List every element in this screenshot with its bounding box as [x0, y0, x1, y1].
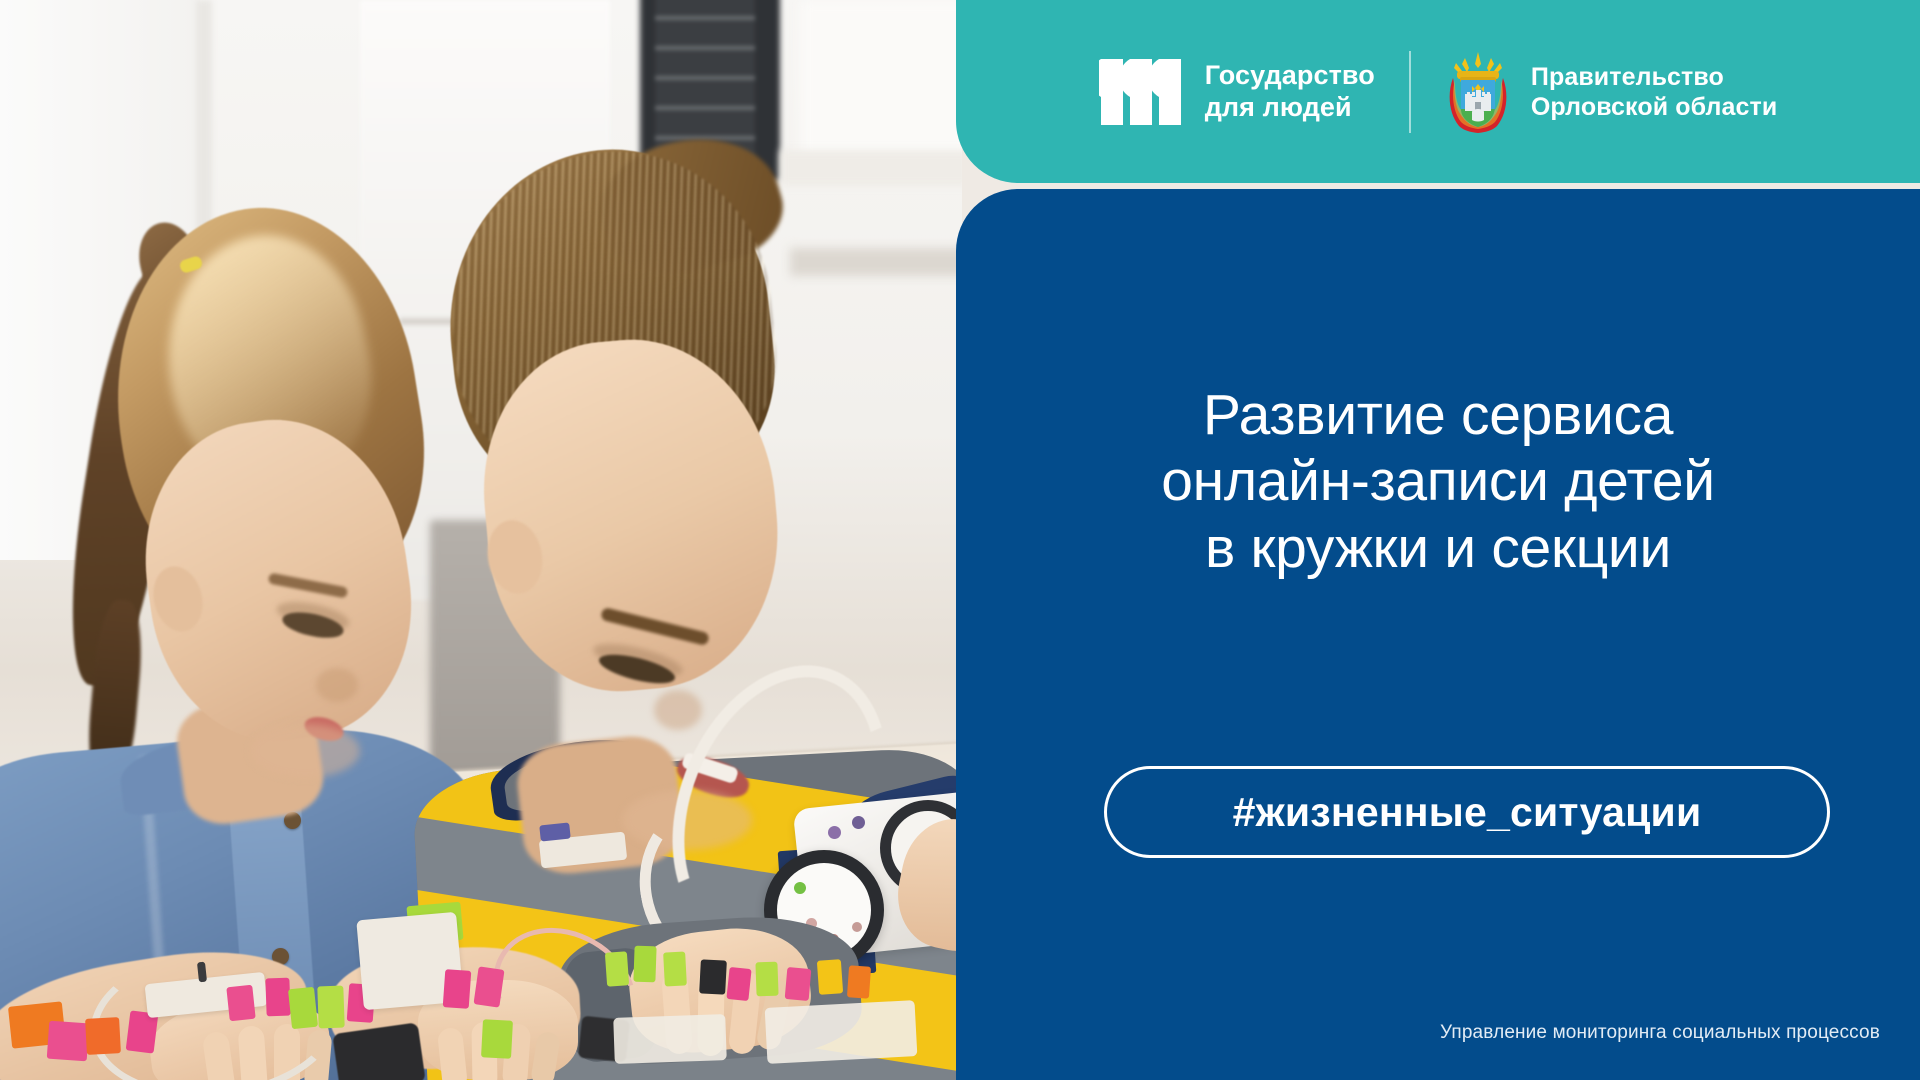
- page-title: Развитие сервиса онлайн-записи детей в к…: [976, 382, 1900, 581]
- kit-part-green: [755, 962, 778, 997]
- main-panel-blue: [956, 189, 1920, 1080]
- kit-part-orange: [847, 965, 871, 998]
- hashtag-label: #жизненные_ситуации: [1233, 789, 1702, 836]
- kit-part-green: [633, 946, 656, 983]
- photo-illustration: [0, 0, 962, 1080]
- background-highlight: [800, 0, 962, 160]
- kit-part-pink: [265, 978, 290, 1017]
- girl-chin: [250, 724, 360, 778]
- brand-gosuslugi: Государство для людей: [1099, 57, 1375, 127]
- oryol-oblast-coat-of-arms-icon: [1445, 50, 1511, 134]
- kit-part-pink: [473, 966, 504, 1007]
- brand-gosuslugi-label: Государство для людей: [1205, 60, 1375, 124]
- header-branding: Государство для людей: [956, 0, 1920, 183]
- kit-part-pink: [785, 967, 812, 1001]
- kit-part-pink: [726, 967, 751, 1001]
- kit-part-purple: [539, 822, 571, 841]
- robot-port: [828, 826, 841, 839]
- kit-part-pink: [226, 985, 255, 1022]
- kit-part-yellow: [817, 959, 843, 995]
- kit-part-pink: [443, 969, 472, 1009]
- brand-oryol-government: Правительство Орловской области: [1445, 50, 1777, 134]
- photo-children-robotics: [0, 0, 962, 1080]
- kit-part-dark: [699, 959, 727, 994]
- footer-department: Управление мониторинга социальных процес…: [0, 1022, 1880, 1044]
- robot-wheel-dot: [852, 922, 862, 932]
- boy-nose: [654, 690, 702, 730]
- kit-part-green: [663, 951, 687, 986]
- background-shelf: [790, 248, 962, 276]
- background-windowsill: [780, 150, 962, 186]
- robot-port: [852, 816, 865, 829]
- poster-canvas: Государство для людей: [0, 0, 1920, 1080]
- three-flags-logo-icon: [1099, 57, 1183, 127]
- robot-wheel-dot: [794, 882, 806, 894]
- hashtag-button[interactable]: #жизненные_ситуации: [1104, 766, 1830, 858]
- brand-oryol-government-label: Правительство Орловской области: [1531, 62, 1777, 122]
- girl-nose: [316, 668, 358, 702]
- vertical-divider: [1409, 51, 1411, 133]
- kit-part-green: [605, 951, 629, 986]
